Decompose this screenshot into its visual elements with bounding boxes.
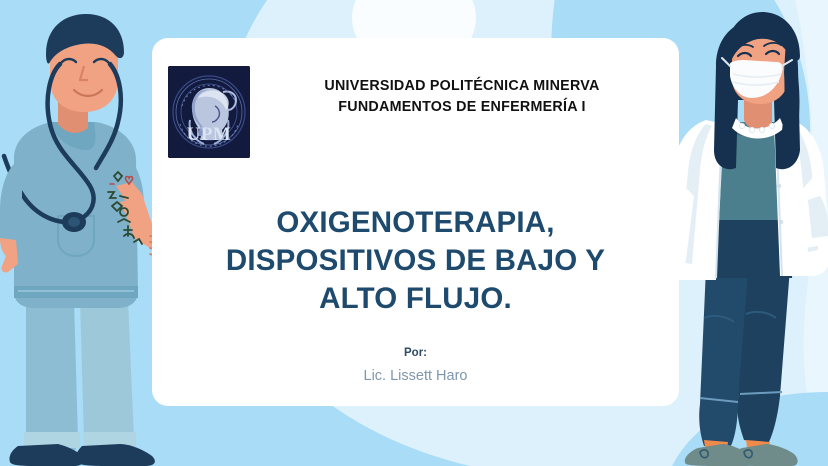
byline: Por: Lic. Lissett Haro	[176, 344, 655, 389]
byline-author-name: Lic. Lissett Haro	[176, 365, 655, 388]
institution-heading: UNIVERSIDAD POLITÉCNICA MINERVA FUNDAMEN…	[250, 64, 672, 117]
title-card: UPM UNIVERSIDAD POLITÉCNICA MINERVA FUND…	[152, 38, 679, 406]
title-line-1: OXIGENOTERAPIA,	[176, 204, 655, 242]
presentation-title-slide: UPM UNIVERSIDAD POLITÉCNICA MINERVA FUND…	[0, 0, 828, 466]
institution-name: UNIVERSIDAD POLITÉCNICA MINERVA	[256, 76, 668, 97]
header-row: UPM UNIVERSIDAD POLITÉCNICA MINERVA FUND…	[160, 64, 672, 158]
byline-label: Por:	[176, 344, 655, 362]
title-line-2: DISPOSITIVOS DE BAJO Y	[176, 242, 655, 280]
upm-seal-icon: UPM	[168, 66, 250, 158]
title-line-3: ALTO FLUJO.	[176, 280, 655, 318]
course-name: FUNDAMENTOS DE ENFERMERÍA I	[256, 97, 668, 118]
page-title: OXIGENOTERAPIA, DISPOSITIVOS DE BAJO Y A…	[176, 204, 655, 318]
